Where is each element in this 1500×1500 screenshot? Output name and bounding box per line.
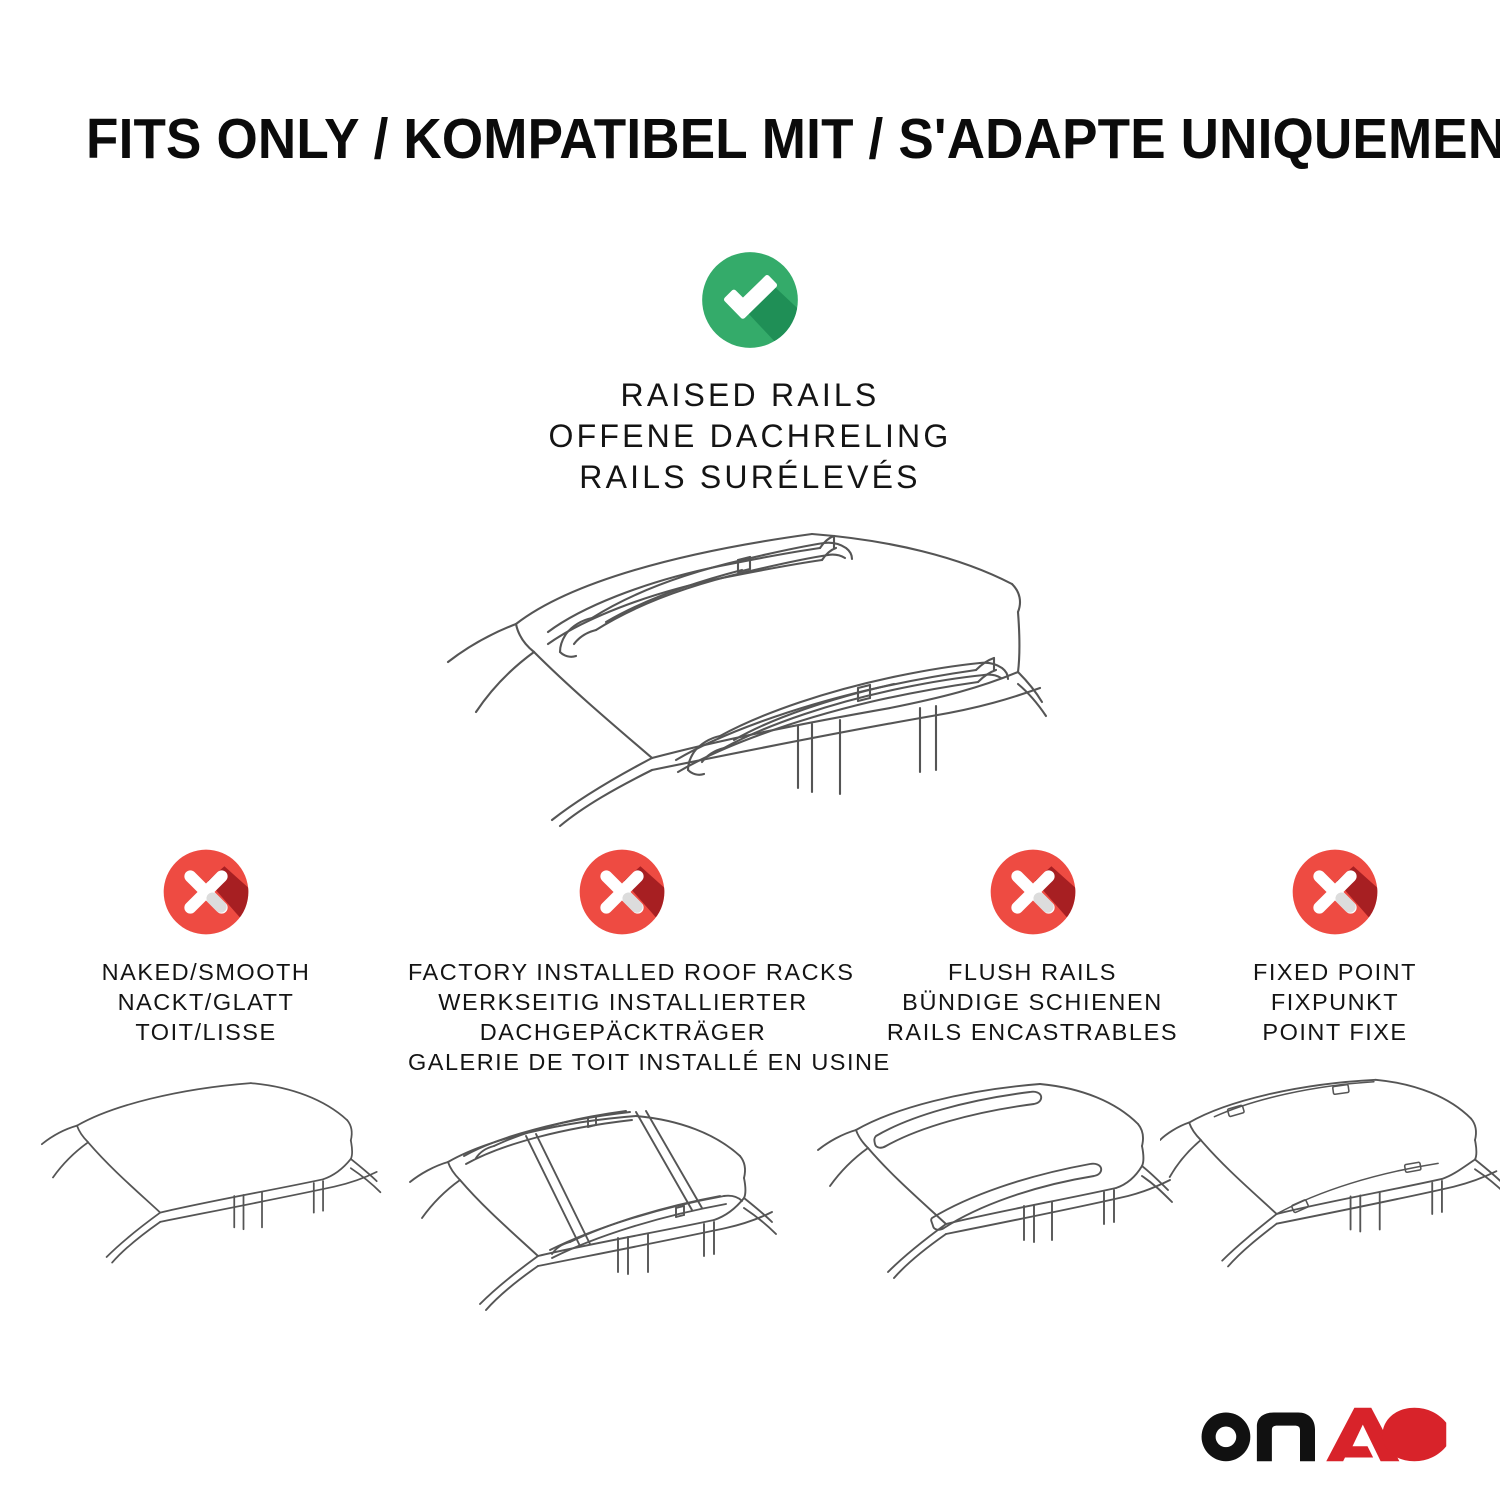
car-roof-flush-rails-illustration: [800, 1072, 1200, 1292]
label-line-fr: TOIT/LISSE: [2, 1017, 410, 1047]
label-line-de: NACKT/GLATT: [2, 987, 410, 1017]
car-roof-factory-roof-rack-illustration: [408, 1100, 808, 1320]
label-line-de-1: WERKSEITIG INSTALLIERTER: [408, 987, 838, 1017]
label-line-de-2: DACHGEPÄCKTRÄGER: [408, 1017, 838, 1047]
brand-logo: OMAC: [1195, 1404, 1448, 1464]
incompatible-label-flush-rails: FLUSH RAILS BÜNDIGE SCHIENEN RAILS ENCAS…: [845, 957, 1220, 1047]
label-line-de: BÜNDIGE SCHIENEN: [845, 987, 1220, 1017]
label-line-en: FLUSH RAILS: [845, 957, 1220, 987]
incompatible-item-flush-rails: FLUSH RAILS BÜNDIGE SCHIENEN RAILS ENCAS…: [845, 846, 1220, 1047]
cross-circle-icon: [2, 846, 410, 943]
incompatible-item-naked-smooth: NAKED/SMOOTH NACKT/GLATT TOIT/LISSE: [20, 846, 410, 1047]
compatible-label-line-de: OFFENE DACHRELING: [0, 416, 1500, 457]
page-title: FITS ONLY / KOMPATIBEL MIT / S'ADAPTE UN…: [86, 104, 1332, 174]
compatible-section: RAISED RAILS OFFENE DACHRELING RAILS SUR…: [0, 248, 1500, 498]
label-line-fr: GALERIE DE TOIT INSTALLÉ EN USINE: [408, 1047, 838, 1077]
car-roof-naked-smooth-illustration: [40, 1072, 410, 1292]
label-line-fr: RAILS ENCASTRABLES: [845, 1017, 1220, 1047]
compatible-label-line-fr: RAILS SURÉLEVÉS: [0, 457, 1500, 498]
cross-circle-icon: [845, 846, 1220, 943]
compatible-label-line-en: RAISED RAILS: [0, 375, 1500, 416]
incompatible-section: NAKED/SMOOTH NACKT/GLATT TOIT/LISSE: [0, 846, 1500, 1466]
cross-circle-icon: [1185, 846, 1485, 943]
car-roof-with-raised-rails-illustration: [420, 512, 1080, 832]
label-line-de: FIXPUNKT: [1185, 987, 1485, 1017]
incompatible-label-fixed-point: FIXED POINT FIXPUNKT POINT FIXE: [1185, 957, 1485, 1047]
incompatible-item-factory-roof-rack: FACTORY INSTALLED ROOF RACKS WERKSEITIG …: [408, 846, 838, 1077]
car-roof-fixed-point-illustration: [1160, 1072, 1500, 1292]
incompatible-label-naked-smooth: NAKED/SMOOTH NACKT/GLATT TOIT/LISSE: [2, 957, 410, 1047]
cross-circle-icon: [406, 846, 838, 943]
check-circle-icon: [698, 248, 802, 352]
label-line-fr: POINT FIXE: [1185, 1017, 1485, 1047]
incompatible-item-fixed-point: FIXED POINT FIXPUNKT POINT FIXE: [1185, 846, 1485, 1047]
label-line-en: FIXED POINT: [1185, 957, 1485, 987]
compatible-label: RAISED RAILS OFFENE DACHRELING RAILS SUR…: [0, 375, 1500, 498]
incompatible-label-factory-roof-rack: FACTORY INSTALLED ROOF RACKS WERKSEITIG …: [408, 957, 838, 1077]
label-line-en: NAKED/SMOOTH: [2, 957, 410, 987]
label-line-en: FACTORY INSTALLED ROOF RACKS: [408, 957, 838, 987]
